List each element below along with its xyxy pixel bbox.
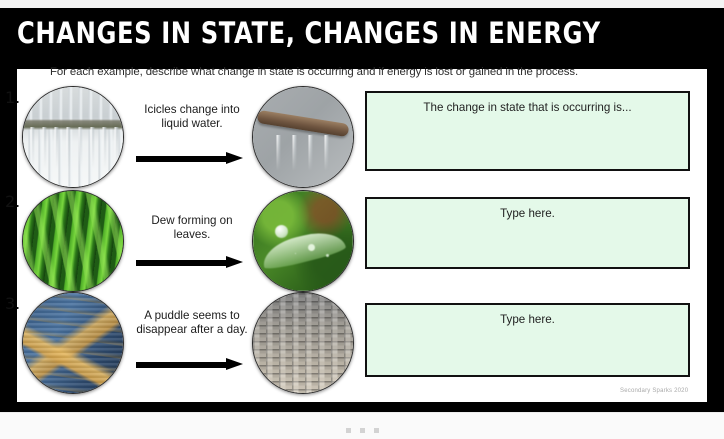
row-number-3: 3. xyxy=(5,294,20,313)
example-row-1: 1. Icicles change into liquid water. The… xyxy=(0,86,724,186)
viewer-bottom-strip xyxy=(0,412,724,439)
melting-icicle-drips-photo xyxy=(252,86,354,188)
row-number-2: 2. xyxy=(5,192,20,211)
pagination-dot-3[interactable] xyxy=(374,428,379,433)
caption-row-2: Dew forming on leaves. xyxy=(134,214,250,242)
example-row-2: 2. Dew forming on leaves. Type here. xyxy=(0,190,724,290)
arrow-head xyxy=(226,256,243,268)
transition-arrow-icon-1 xyxy=(136,152,248,164)
arrow-head xyxy=(226,358,243,370)
page-title: CHANGES IN STATE, CHANGES IN ENERGY xyxy=(17,16,601,50)
answer-box-1[interactable]: The change in state that is occurring is… xyxy=(365,91,690,171)
dew-image-art xyxy=(253,191,353,291)
caption-row-3: A puddle seems to disappear after a day. xyxy=(134,309,250,337)
answer-box-2[interactable]: Type here. xyxy=(365,197,690,269)
slide-viewer: CHANGES IN STATE, CHANGES IN ENERGY For … xyxy=(0,0,724,439)
row-number-1: 1. xyxy=(5,88,20,107)
dew-drops-on-leaf-photo xyxy=(252,190,354,292)
caption-row-1: Icicles change into liquid water. xyxy=(134,103,250,131)
transition-arrow-icon-2 xyxy=(136,256,248,268)
arrow-head xyxy=(226,152,243,164)
pagination-dot-2[interactable] xyxy=(360,428,365,433)
grass-image-art xyxy=(23,191,123,291)
puddle-reflection-photo xyxy=(22,292,124,394)
dry-cobblestone-pavement-photo xyxy=(252,292,354,394)
icicles-on-branch-photo xyxy=(22,86,124,188)
arrow-shaft xyxy=(136,362,228,368)
answer-box-3[interactable]: Type here. xyxy=(365,303,690,377)
cobblestone-image-art xyxy=(253,293,353,393)
transition-arrow-icon-3 xyxy=(136,358,248,370)
puddle-image-art xyxy=(23,293,123,393)
green-grass-blades-photo xyxy=(22,190,124,292)
instructions-text: For each example, describe what change i… xyxy=(50,66,690,78)
icicles-image-art xyxy=(23,87,123,187)
arrow-shaft xyxy=(136,156,228,162)
viewer-top-strip xyxy=(0,0,724,8)
example-row-3: 3. A puddle seems to disappear after a d… xyxy=(0,292,724,392)
melting-image-art xyxy=(253,87,353,187)
arrow-shaft xyxy=(136,260,228,266)
credit-text: Secondary Sparks 2020 xyxy=(620,388,688,394)
slide-pagination[interactable] xyxy=(0,428,724,433)
pagination-dot-1[interactable] xyxy=(346,428,351,433)
